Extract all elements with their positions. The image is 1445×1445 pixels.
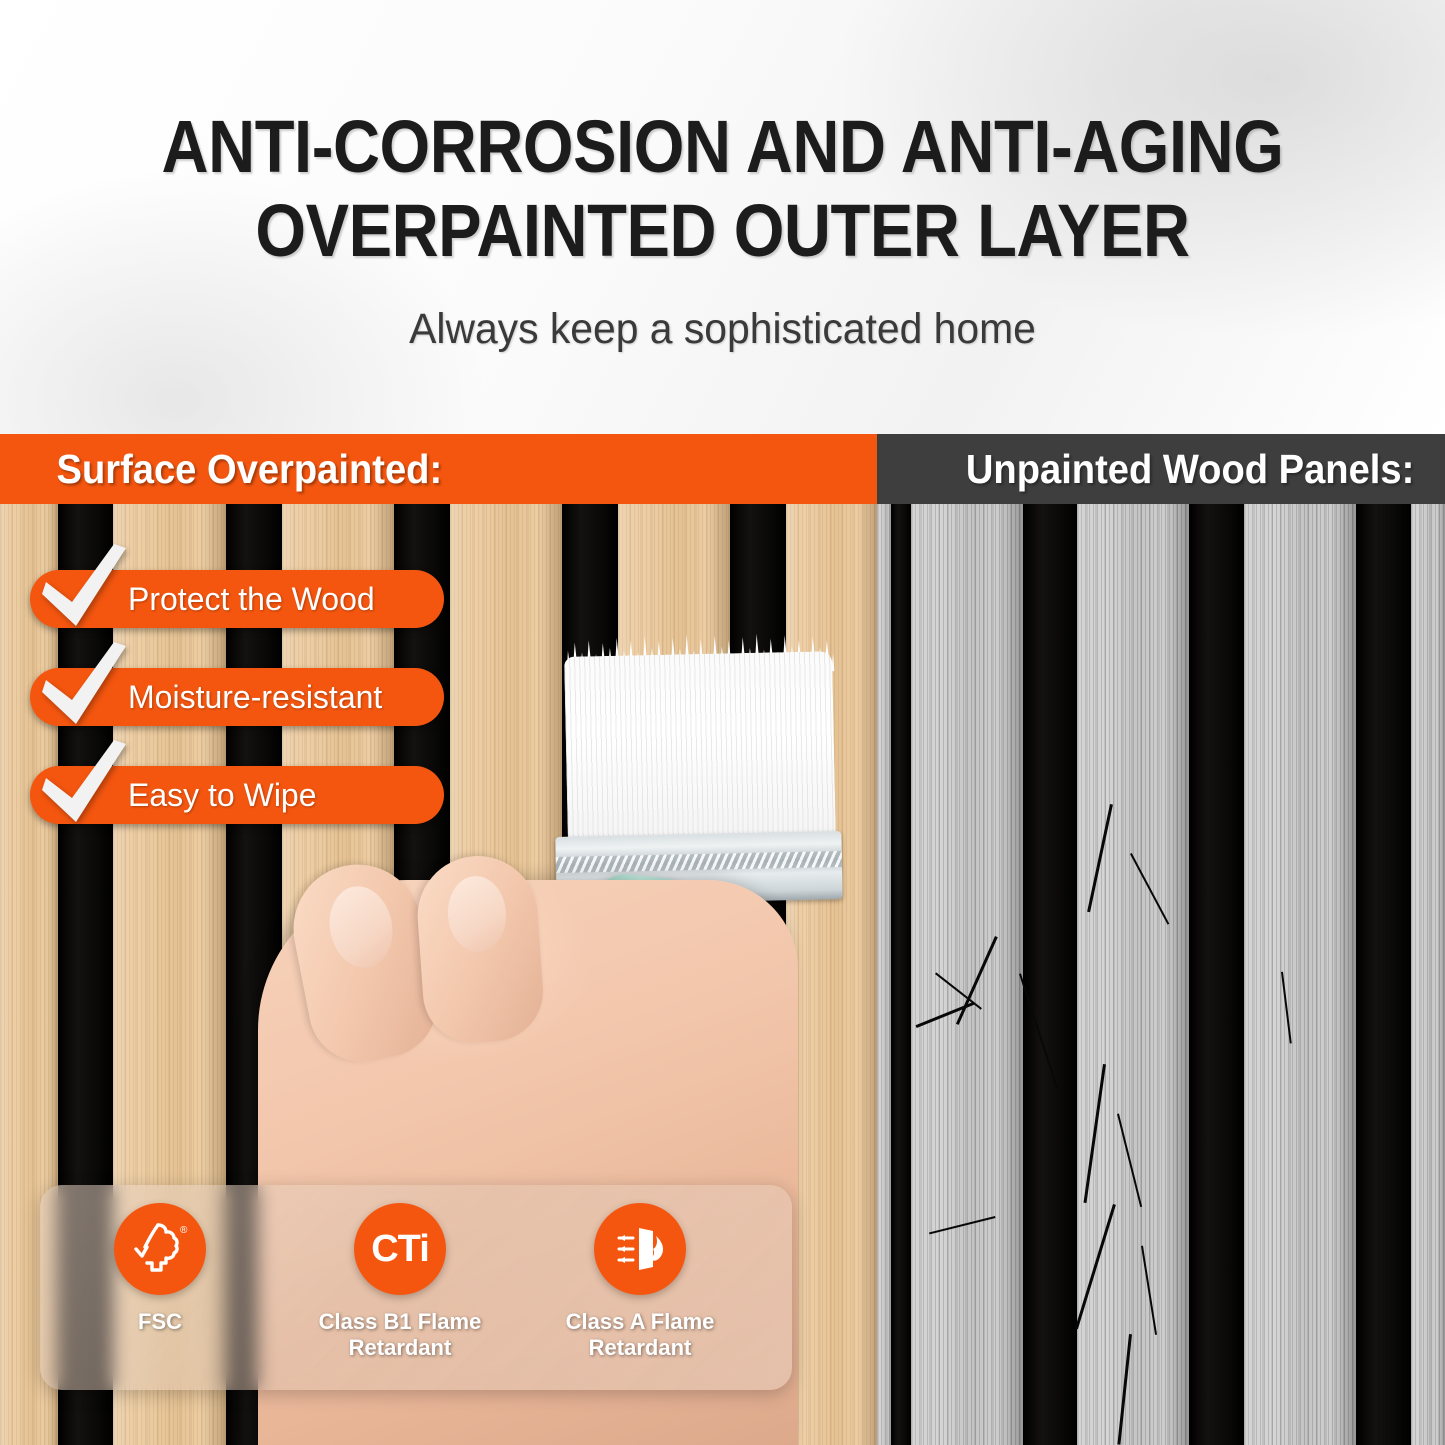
certification-fsc[interactable]: ® FSC (40, 1203, 280, 1335)
slat-groove (1356, 504, 1411, 1445)
flame-retardant-panel-icon (609, 1218, 671, 1280)
feature-pill-easy-to-wipe[interactable]: Easy to Wipe (30, 766, 444, 824)
feature-pill-protect-the-wood[interactable]: Protect the Wood (30, 570, 444, 628)
banner-right-label: Unpainted Wood Panels: (966, 446, 1414, 493)
banner-left-label: Surface Overpainted: (57, 446, 443, 493)
page-subtitle: Always keep a sophisticated home (36, 305, 1409, 354)
cti-logo-icon: CTi (371, 1228, 429, 1271)
aged-slat (1077, 504, 1189, 1445)
certifications-row: ® FSC CTi Class B1 Flame Retardant (40, 1185, 792, 1390)
certification-label: FSC (138, 1309, 182, 1335)
feature-label: Protect the Wood (128, 581, 375, 618)
aged-slat (911, 504, 1023, 1445)
fsc-tree-icon: ® (128, 1217, 192, 1281)
unpainted-wood-panel-photo: Easy to Age Easy go Mouldy Difficult to … (877, 504, 1445, 1445)
certification-class-b1[interactable]: CTi Class B1 Flame Retardant (280, 1203, 520, 1361)
certification-label: Class B1 Flame Retardant (319, 1309, 482, 1361)
fsc-badge-circle: ® (114, 1203, 206, 1295)
wood-slat (786, 504, 877, 1445)
slat-groove (1023, 504, 1077, 1445)
banner-surface-overpainted: Surface Overpainted: (0, 434, 877, 504)
aged-slat (877, 504, 891, 1445)
certification-label: Class A Flame Retardant (566, 1309, 715, 1361)
feature-pill-moisture-resistant[interactable]: Moisture-resistant (30, 668, 444, 726)
feature-label: Easy to Wipe (128, 777, 317, 814)
svg-text:®: ® (180, 1225, 188, 1236)
infographic-root: ANTI-CORROSION AND ANTI-AGING OVERPAINTE… (0, 0, 1445, 1445)
cti-badge-circle: CTi (354, 1203, 446, 1295)
aged-slat (1411, 504, 1445, 1445)
page-title: ANTI-CORROSION AND ANTI-AGING OVERPAINTE… (87, 105, 1359, 273)
banner-unpainted-wood-panels: Unpainted Wood Panels: (877, 434, 1445, 504)
flame-retardant-badge-circle (594, 1203, 686, 1295)
header-section: ANTI-CORROSION AND ANTI-AGING OVERPAINTE… (0, 0, 1445, 434)
slat-groove (891, 504, 911, 1445)
certification-class-a[interactable]: Class A Flame Retardant (520, 1203, 760, 1361)
aged-slat (1244, 504, 1356, 1445)
slat-groove (1189, 504, 1244, 1445)
feature-label: Moisture-resistant (128, 679, 382, 716)
